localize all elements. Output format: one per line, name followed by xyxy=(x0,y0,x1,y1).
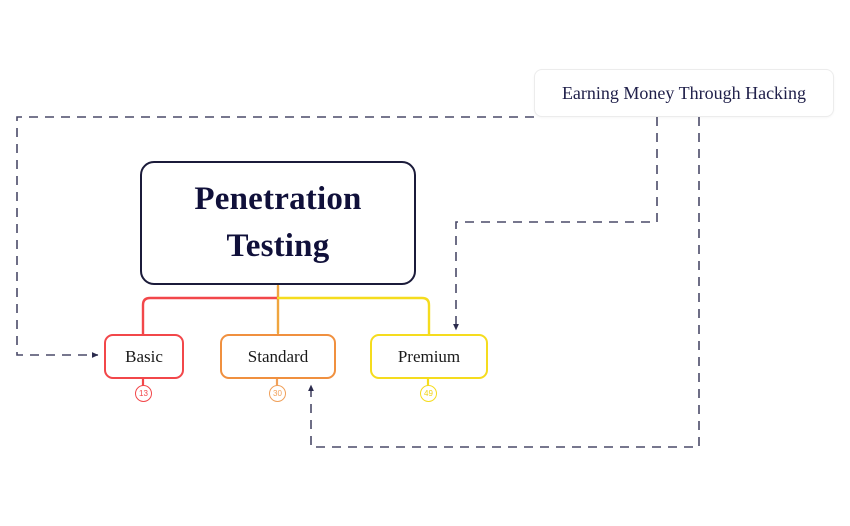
root-node-label: Penetration Testing xyxy=(156,176,400,270)
edge-root-premium xyxy=(278,298,429,334)
badge-basic-value: 13 xyxy=(139,390,148,398)
diagram-canvas: Penetration Testing Basic Standard Premi… xyxy=(0,0,850,526)
node-standard[interactable]: Standard xyxy=(220,334,336,379)
node-premium[interactable]: Premium xyxy=(370,334,488,379)
dashed-edge-label-to-premium xyxy=(456,117,657,330)
floating-topic-label-text: Earning Money Through Hacking xyxy=(562,83,806,104)
node-standard-label: Standard xyxy=(248,347,308,367)
badge-premium-count[interactable]: 49 xyxy=(420,385,437,402)
floating-topic-label[interactable]: Earning Money Through Hacking xyxy=(534,69,834,117)
root-node-penetration-testing[interactable]: Penetration Testing xyxy=(140,161,416,285)
node-premium-label: Premium xyxy=(398,347,460,367)
badge-premium-value: 49 xyxy=(424,390,433,398)
node-basic-label: Basic xyxy=(125,347,163,367)
badge-standard-value: 30 xyxy=(273,390,282,398)
node-basic[interactable]: Basic xyxy=(104,334,184,379)
badge-basic-count[interactable]: 13 xyxy=(135,385,152,402)
badge-standard-count[interactable]: 30 xyxy=(269,385,286,402)
edge-root-basic xyxy=(143,298,278,334)
